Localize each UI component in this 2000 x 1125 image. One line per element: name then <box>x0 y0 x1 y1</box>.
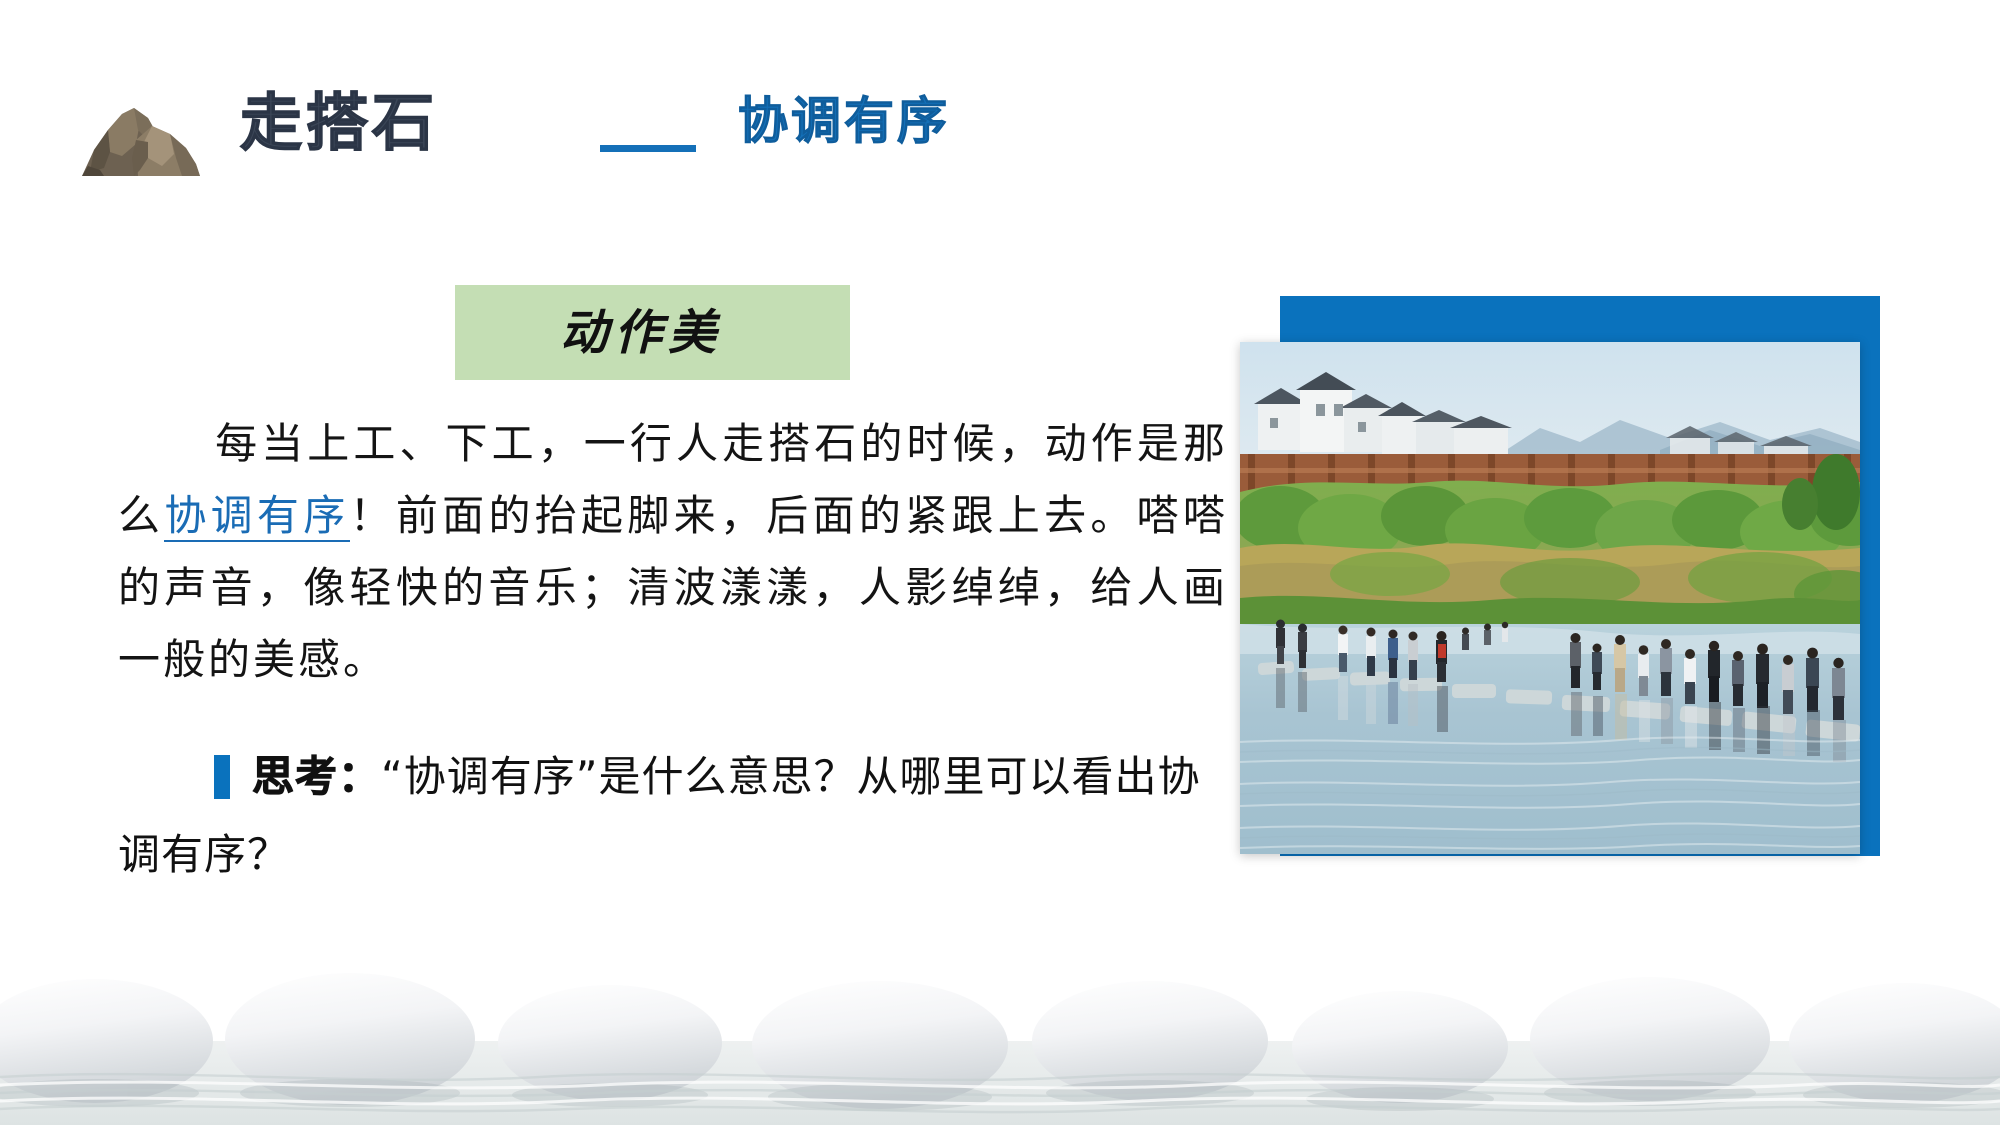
title-dash-rule <box>600 145 696 152</box>
page-subtitle: 协调有序 <box>738 96 950 146</box>
highlighted-term: 协调有序 <box>164 491 349 542</box>
body-paragraph: 每当上工、下工，一行人走搭石的时候，动作是那么协调有序！前面的抬起脚来，后面的紧… <box>118 408 1228 696</box>
bottom-stones-decoration <box>0 935 2000 1125</box>
photo-frame-top-bar <box>1280 296 1880 348</box>
stepping-stones-river-photo <box>1240 342 1860 854</box>
slide-header: 走搭石 协调有序 <box>0 0 2000 230</box>
question-bullet-bar <box>214 755 230 799</box>
section-heading-label: 动作美 <box>560 300 722 367</box>
slide-canvas: 走搭石 协调有序 动作美 每当上工、下工，一行人走搭石的时候，动作是那么协调有序… <box>0 0 2000 1125</box>
page-title: 走搭石 <box>240 92 438 154</box>
rock-icon <box>78 96 208 176</box>
photo-container <box>1240 280 1880 880</box>
question-label: 思考： <box>252 752 381 801</box>
question-block: 思考：“协调有序”是什么意思？从哪里可以看出协调有序？ <box>118 738 1238 894</box>
